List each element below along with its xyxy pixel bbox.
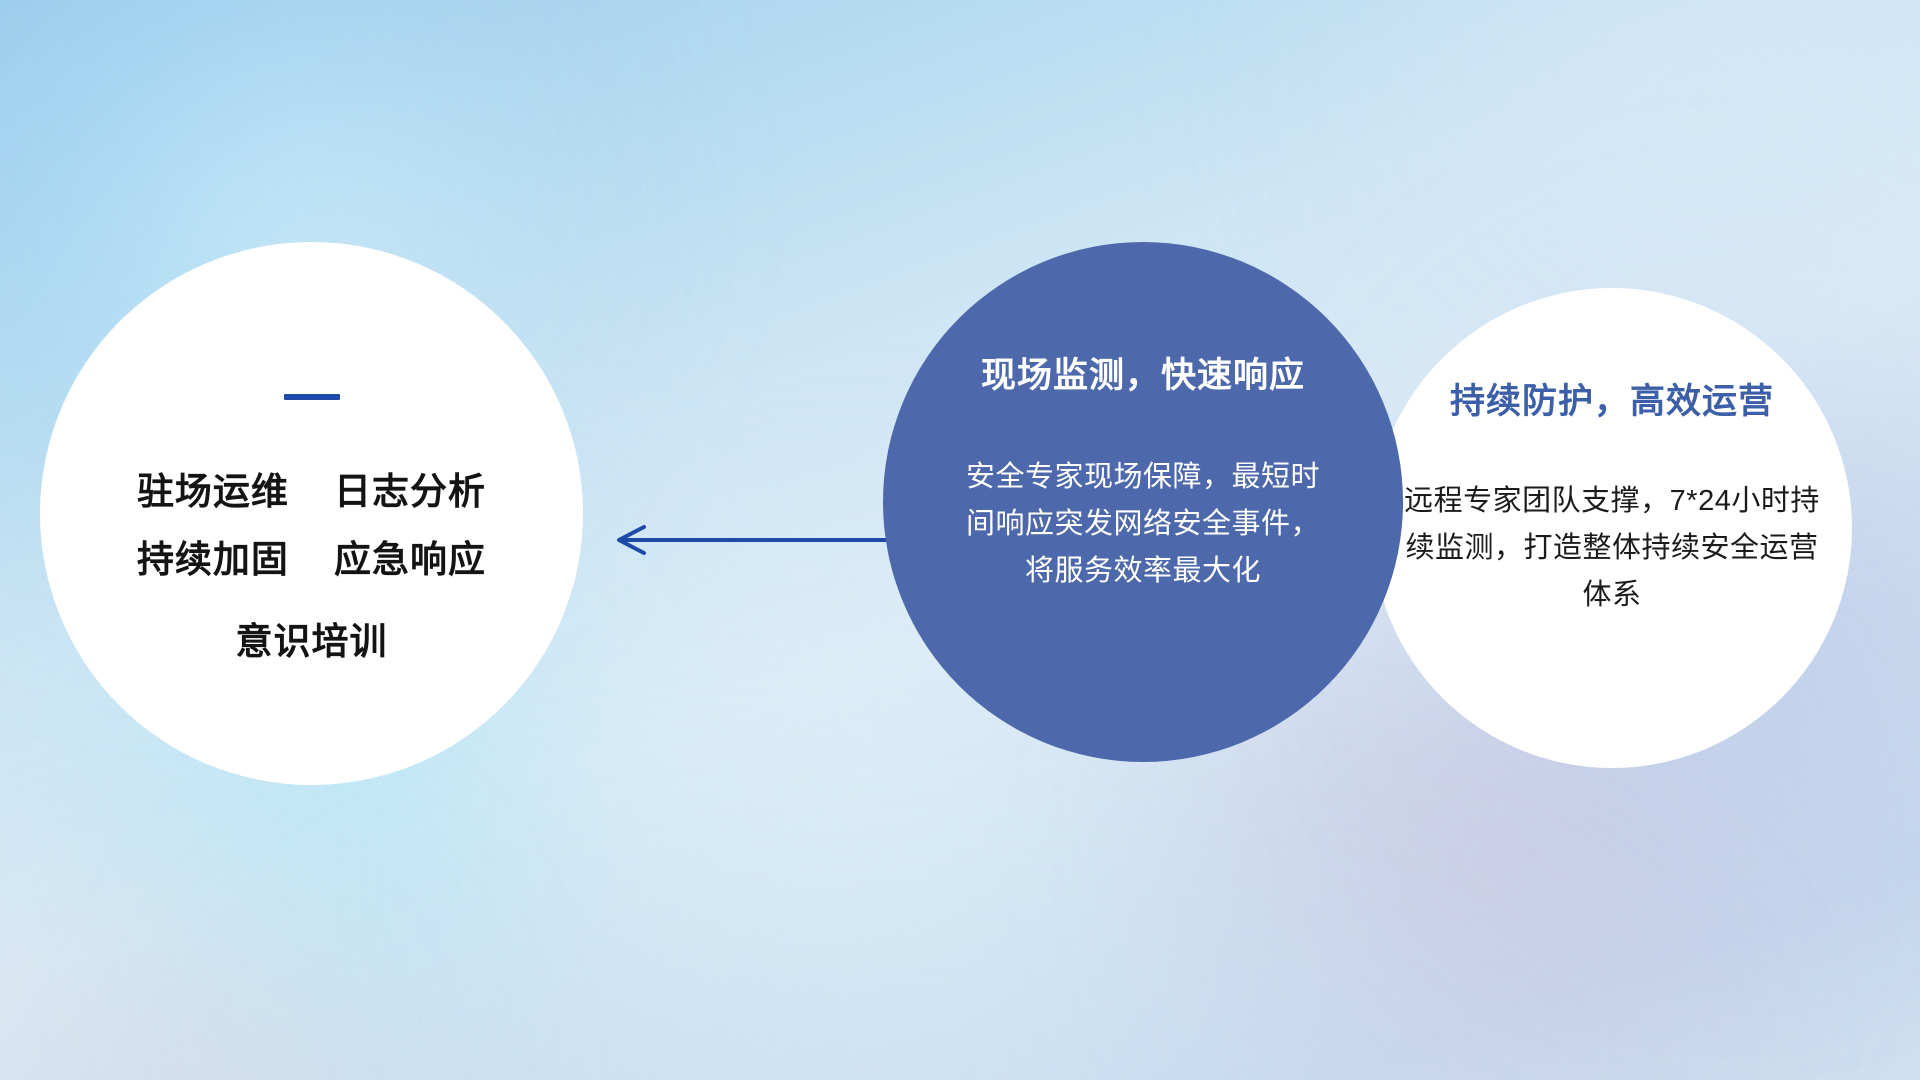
onsite-monitoring-circle: 现场监测，快速响应 安全专家现场保障，最短时间响应突发网络安全事件，将服务效率最… — [883, 242, 1403, 762]
service-capabilities-list: 驻场运维 日志分析 持续加固 应急响应 意识培训 — [137, 458, 486, 676]
accent-dash-divider — [284, 394, 340, 400]
leftward-flow-arrow — [600, 520, 890, 560]
continuous-protection-circle: 持续防护，高效运营 远程专家团队支撑，7*24小时持续监测，打造整体持续安全运营… — [1372, 288, 1852, 768]
onsite-monitoring-body: 安全专家现场保障，最短时间响应突发网络安全事件，将服务效率最大化 — [953, 454, 1333, 595]
continuous-protection-title: 持续防护，高效运营 — [1450, 373, 1774, 424]
list-item: 意识培训 — [137, 608, 486, 676]
background-blob-bottom-wash — [200, 860, 1700, 1080]
continuous-protection-body: 远程专家团队支撑，7*24小时持续监测，打造整体持续安全运营体系 — [1402, 478, 1822, 619]
service-capabilities-circle: 驻场运维 日志分析 持续加固 应急响应 意识培训 — [40, 242, 583, 785]
background-blob-bottom-left-pink — [0, 900, 440, 1080]
list-item: 持续加固 应急响应 — [137, 526, 486, 594]
onsite-monitoring-title: 现场监测，快速响应 — [981, 347, 1305, 398]
list-item: 驻场运维 日志分析 — [137, 458, 486, 526]
slide-canvas: 驻场运维 日志分析 持续加固 应急响应 意识培训 现场监测，快速响应 安全专家现… — [0, 0, 1920, 1080]
